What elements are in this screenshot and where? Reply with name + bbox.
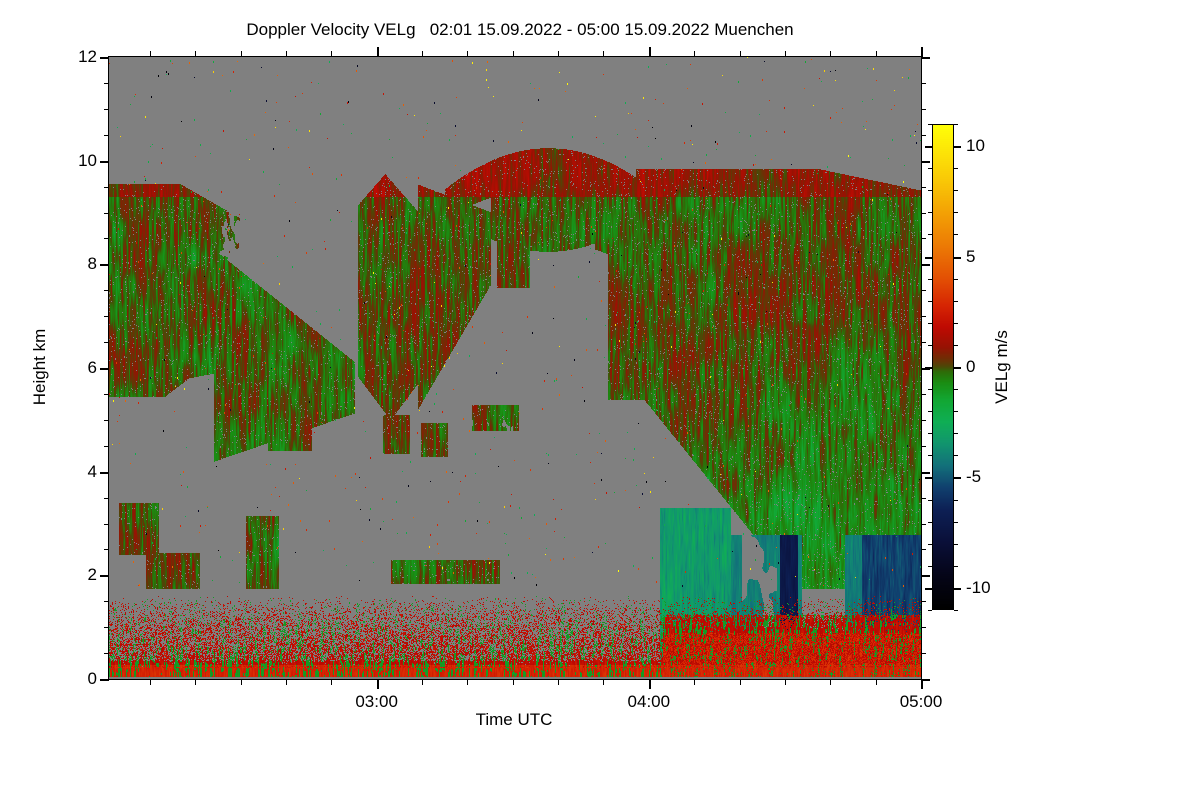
y-tick-label: 0 [88, 669, 97, 689]
colorbar-tick-left [928, 323, 932, 324]
y-tick [104, 524, 109, 525]
x-tick-top [603, 51, 604, 57]
colorbar-tick-left [928, 301, 932, 302]
y-tick [104, 109, 109, 110]
x-tick-top [150, 51, 151, 57]
colorbar-tick-left [925, 588, 932, 590]
y-tick-right [921, 575, 930, 577]
y-tick-label: 12 [78, 47, 97, 67]
colorbar-tick [954, 588, 961, 590]
x-tick-top [377, 47, 379, 57]
colorbar-gradient [932, 124, 954, 610]
x-tick-top [513, 51, 514, 57]
x-tick-top [558, 51, 559, 57]
colorbar-tick-label: 0 [966, 357, 975, 377]
colorbar-tick-left [928, 522, 932, 523]
y-tick [100, 575, 109, 577]
y-tick-right [921, 601, 926, 602]
colorbar-tick [954, 610, 958, 611]
colorbar-tick-left [928, 212, 932, 213]
colorbar-tick [954, 124, 958, 125]
colorbar-tick-left [925, 477, 932, 479]
y-tick [104, 213, 109, 214]
colorbar: 1050-5-10 [932, 124, 954, 610]
x-tick-top [921, 47, 923, 57]
colorbar-tick [954, 279, 958, 280]
y-tick [104, 653, 109, 654]
y-tick [104, 549, 109, 550]
x-tick [195, 679, 196, 685]
x-tick [603, 679, 604, 685]
colorbar-tick [954, 411, 958, 412]
colorbar-tick-left [928, 279, 932, 280]
colorbar-tick [954, 544, 958, 545]
x-tick-top [331, 51, 332, 57]
colorbar-tick [954, 301, 958, 302]
y-tick-right [921, 524, 926, 525]
colorbar-tick [954, 566, 958, 567]
x-tick [558, 679, 559, 685]
y-tick-right [921, 290, 926, 291]
colorbar-tick [954, 522, 958, 523]
x-axis-title: Time UTC [476, 710, 553, 730]
colorbar-tick-left [928, 566, 932, 567]
y-tick-right [921, 394, 926, 395]
colorbar-tick [954, 168, 958, 169]
x-tick-top [876, 51, 877, 57]
colorbar-tick-left [928, 610, 932, 611]
x-tick [513, 679, 514, 685]
y-tick [104, 187, 109, 188]
colorbar-tick-left [928, 168, 932, 169]
x-tick [785, 679, 786, 685]
x-tick-label: 03:00 [355, 692, 398, 712]
x-tick-top [467, 51, 468, 57]
y-tick [100, 472, 109, 474]
colorbar-tick [954, 500, 958, 501]
x-tick-top [830, 51, 831, 57]
y-tick-right [921, 83, 926, 84]
colorbar-tick-left [925, 146, 932, 148]
y-tick [100, 368, 109, 370]
colorbar-tick [954, 212, 958, 213]
colorbar-tick-label: 10 [966, 136, 985, 156]
colorbar-tick-left [928, 433, 932, 434]
x-tick-top [785, 51, 786, 57]
colorbar-title: VELg m/s [992, 330, 1012, 404]
colorbar-tick [954, 257, 961, 259]
y-tick-right [921, 446, 926, 447]
y-tick [104, 238, 109, 239]
colorbar-tick [954, 455, 958, 456]
colorbar-tick [954, 345, 958, 346]
y-tick [104, 290, 109, 291]
colorbar-tick [954, 477, 961, 479]
y-tick-right [921, 549, 926, 550]
y-tick [104, 627, 109, 628]
x-tick [241, 679, 242, 685]
y-tick-right [921, 264, 930, 266]
y-tick-right [921, 342, 926, 343]
x-tick-top [740, 51, 741, 57]
y-axis-title: Height km [30, 329, 50, 406]
y-tick-right [921, 472, 930, 474]
y-tick-right [921, 57, 930, 59]
x-tick-top [286, 51, 287, 57]
x-tick [921, 679, 923, 689]
x-tick-label: 04:00 [628, 692, 671, 712]
y-tick-right [921, 213, 926, 214]
x-tick-top [649, 47, 651, 57]
colorbar-tick-left [928, 190, 932, 191]
x-tick-top [694, 51, 695, 57]
colorbar-tick-label: -5 [966, 467, 981, 487]
y-tick-right [921, 187, 926, 188]
colorbar-tick-left [928, 234, 932, 235]
y-tick-right [921, 238, 926, 239]
colorbar-tick-left [928, 544, 932, 545]
x-tick [649, 679, 651, 689]
y-tick [104, 498, 109, 499]
y-tick-right [921, 498, 926, 499]
y-tick [104, 446, 109, 447]
x-tick-top [422, 51, 423, 57]
colorbar-tick [954, 433, 958, 434]
y-tick [104, 420, 109, 421]
colorbar-tick [954, 389, 958, 390]
x-tick [830, 679, 831, 685]
x-tick [331, 679, 332, 685]
y-tick-label: 8 [88, 254, 97, 274]
y-tick-right [921, 420, 926, 421]
colorbar-tick-left [928, 455, 932, 456]
y-tick [100, 161, 109, 163]
x-tick-top [241, 51, 242, 57]
y-tick [104, 83, 109, 84]
y-tick-right [921, 161, 930, 163]
x-tick [876, 679, 877, 685]
x-tick [422, 679, 423, 685]
x-tick-label: 05:00 [900, 692, 943, 712]
y-tick-label: 6 [88, 358, 97, 378]
colorbar-tick-left [928, 124, 932, 125]
colorbar-tick [954, 190, 958, 191]
x-tick [467, 679, 468, 685]
y-tick [104, 316, 109, 317]
y-tick-label: 10 [78, 151, 97, 171]
colorbar-tick [954, 234, 958, 235]
y-tick-label: 2 [88, 565, 97, 585]
colorbar-tick-left [928, 389, 932, 390]
y-tick-label: 4 [88, 462, 97, 482]
x-tick [694, 679, 695, 685]
colorbar-tick [954, 367, 961, 369]
doppler-velocity-heatmap [109, 57, 921, 679]
y-tick-right [921, 109, 926, 110]
y-tick [100, 679, 109, 681]
figure-canvas: Doppler Velocity VELg 02:01 15.09.2022 -… [0, 0, 1200, 800]
y-tick [104, 135, 109, 136]
y-tick [104, 601, 109, 602]
plot-area: 024681012 03:0004:0005:00 [108, 56, 922, 680]
y-tick-right [921, 316, 926, 317]
y-tick [100, 57, 109, 59]
colorbar-tick-label: -10 [966, 578, 991, 598]
colorbar-tick-left [928, 500, 932, 501]
colorbar-tick-left [928, 345, 932, 346]
y-tick-right [921, 627, 926, 628]
y-tick-right [921, 135, 926, 136]
y-tick [104, 342, 109, 343]
x-tick [377, 679, 379, 689]
y-tick [100, 264, 109, 266]
x-tick-top [195, 51, 196, 57]
colorbar-tick [954, 323, 958, 324]
colorbar-tick-label: 5 [966, 247, 975, 267]
y-tick-right [921, 653, 926, 654]
x-tick [150, 679, 151, 685]
colorbar-tick-left [928, 411, 932, 412]
colorbar-tick [954, 146, 961, 148]
page-title: Doppler Velocity VELg 02:01 15.09.2022 -… [0, 20, 1040, 40]
x-tick [740, 679, 741, 685]
y-tick [104, 394, 109, 395]
colorbar-tick-left [925, 367, 932, 369]
x-tick [286, 679, 287, 685]
colorbar-tick-left [925, 257, 932, 259]
